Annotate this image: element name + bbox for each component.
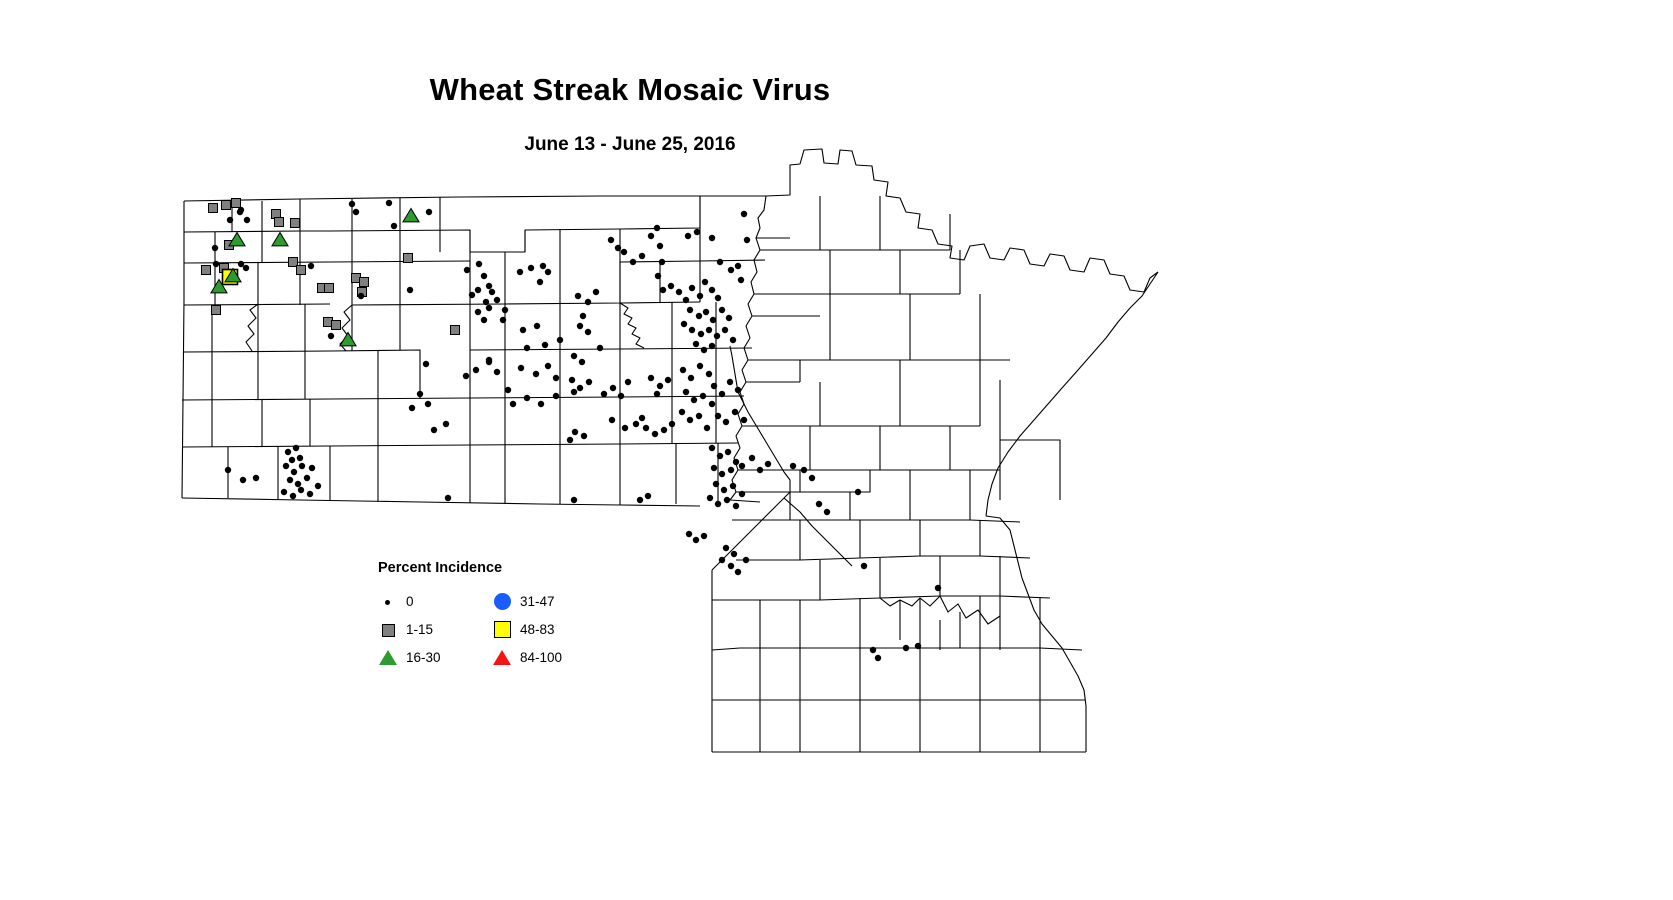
sample-point-0 <box>715 413 721 419</box>
sample-point-0 <box>639 415 645 421</box>
sample-point-0 <box>790 463 796 469</box>
sample-point-0 <box>719 471 725 477</box>
sample-point-0 <box>661 427 667 433</box>
legend-red-triangle-icon <box>492 648 514 668</box>
sample-point-0 <box>683 389 689 395</box>
sample-point-0 <box>308 263 314 269</box>
sample-point-0 <box>688 375 694 381</box>
sample-point-0 <box>281 489 287 495</box>
sample-point-0 <box>903 645 909 651</box>
sample-point-0 <box>935 585 941 591</box>
sample-point-0 <box>581 433 587 439</box>
sample-point-0 <box>486 283 492 289</box>
sample-point-0 <box>557 337 563 343</box>
county-boundaries <box>182 149 1158 752</box>
sample-point-0 <box>445 495 451 501</box>
sample-point-1-15 <box>222 201 231 210</box>
sample-point-0 <box>225 467 231 473</box>
sample-point-0 <box>601 391 607 397</box>
state-county-map <box>0 0 1673 900</box>
sample-point-0 <box>238 207 244 213</box>
sample-point-0 <box>494 297 500 303</box>
sample-point-0 <box>510 401 516 407</box>
sample-point-0 <box>915 643 921 649</box>
sample-point-0 <box>486 305 492 311</box>
sample-point-0 <box>489 289 495 295</box>
sample-point-0 <box>652 431 658 437</box>
sample-point-0 <box>733 503 739 509</box>
sample-point-1-15 <box>202 266 211 275</box>
sample-point-0 <box>238 261 244 267</box>
sample-point-0 <box>328 333 334 339</box>
sample-point-0 <box>701 533 707 539</box>
legend-title: Percent Incidence <box>378 560 502 576</box>
sample-point-0 <box>679 409 685 415</box>
sample-point-0 <box>711 383 717 389</box>
sample-point-0 <box>824 509 830 515</box>
sample-point-0 <box>709 235 715 241</box>
sample-point-0 <box>689 285 695 291</box>
sample-point-0 <box>630 259 636 265</box>
sample-point-0 <box>213 261 219 267</box>
sample-point-1-15 <box>360 278 369 287</box>
sample-point-0 <box>533 371 539 377</box>
sample-point-1-15 <box>275 218 284 227</box>
sample-point-0 <box>709 287 715 293</box>
sample-point-0 <box>739 491 745 497</box>
sample-point-0 <box>534 323 540 329</box>
sample-point-0 <box>855 489 861 495</box>
sample-point-0 <box>633 421 639 427</box>
sample-point-0 <box>739 463 745 469</box>
sample-point-0 <box>540 263 546 269</box>
sample-point-0 <box>735 387 741 393</box>
sample-point-0 <box>706 327 712 333</box>
sample-point-0 <box>481 317 487 323</box>
sample-point-0 <box>227 217 233 223</box>
sample-point-0 <box>660 287 666 293</box>
sample-point-0 <box>545 363 551 369</box>
sample-point-0 <box>731 551 737 557</box>
sample-point-0 <box>715 501 721 507</box>
sample-point-16-30 <box>272 232 288 245</box>
sample-point-0 <box>710 317 716 323</box>
sample-point-0 <box>299 463 305 469</box>
sample-point-0 <box>717 259 723 265</box>
sample-point-0 <box>735 569 741 575</box>
legend: Percent Incidence 0 1-15 16-30 31-47 <box>378 560 628 685</box>
sample-point-0 <box>518 365 524 371</box>
sample-point-0 <box>297 455 303 461</box>
sample-point-0 <box>654 391 660 397</box>
sample-point-0 <box>586 379 592 385</box>
sample-point-0 <box>685 233 691 239</box>
sample-point-0 <box>443 421 449 427</box>
sample-point-0 <box>728 467 734 473</box>
legend-yellow-square-icon <box>492 620 514 640</box>
sample-point-0 <box>689 327 695 333</box>
sample-point-0 <box>585 329 591 335</box>
sample-point-0 <box>697 293 703 299</box>
sample-point-0 <box>253 475 259 481</box>
sample-point-0 <box>473 367 479 373</box>
sample-point-0 <box>622 425 628 431</box>
sample-point-0 <box>483 299 489 305</box>
sample-point-0 <box>643 425 649 431</box>
sample-point-0 <box>538 401 544 407</box>
sample-point-0 <box>431 427 437 433</box>
sample-point-0 <box>659 259 665 265</box>
sample-point-0 <box>309 465 315 471</box>
sample-point-0 <box>669 421 675 427</box>
sample-point-0 <box>704 425 710 431</box>
sample-point-0 <box>870 647 876 653</box>
sample-point-0 <box>500 317 506 323</box>
sample-point-0 <box>702 279 708 285</box>
sample-point-0 <box>728 267 734 273</box>
sample-point-0 <box>475 287 481 293</box>
sample-point-16-30 <box>340 332 356 345</box>
legend-blue-circle-icon <box>492 592 514 612</box>
sample-point-0 <box>709 343 715 349</box>
sample-point-0 <box>713 481 719 487</box>
sample-point-0 <box>481 273 487 279</box>
sample-point-0 <box>719 557 725 563</box>
sample-point-0 <box>733 459 739 465</box>
sample-point-0 <box>717 453 723 459</box>
sample-point-0 <box>694 229 700 235</box>
sample-point-0 <box>240 477 246 483</box>
sample-point-0 <box>726 315 732 321</box>
sample-point-0 <box>298 487 304 493</box>
sample-point-1-15 <box>212 306 221 315</box>
sample-point-1-15 <box>291 219 300 228</box>
sample-point-0 <box>681 321 687 327</box>
sample-point-0 <box>571 497 577 503</box>
legend-gray-square-icon <box>378 620 400 640</box>
sample-point-0 <box>703 309 709 315</box>
sample-point-0 <box>668 283 674 289</box>
sample-point-0 <box>730 337 736 343</box>
sample-point-0 <box>409 405 415 411</box>
sample-point-0 <box>697 363 703 369</box>
sample-point-0 <box>676 289 682 295</box>
sample-point-0 <box>680 367 686 373</box>
sample-point-0 <box>290 493 296 499</box>
sample-point-1-15 <box>451 326 460 335</box>
sample-point-0 <box>707 495 713 501</box>
sample-point-0 <box>801 467 807 473</box>
sample-point-0 <box>701 347 707 353</box>
legend-label-1-15: 1-15 <box>406 622 433 637</box>
sample-point-0 <box>727 379 733 385</box>
sample-point-0 <box>730 483 736 489</box>
sample-point-0 <box>875 655 881 661</box>
sample-point-0 <box>315 483 321 489</box>
sample-point-0 <box>577 385 583 391</box>
sample-point-0 <box>738 277 744 283</box>
sample-point-0 <box>693 537 699 543</box>
sample-point-0 <box>580 313 586 319</box>
sample-point-1-15 <box>297 266 306 275</box>
sample-point-0 <box>721 487 727 493</box>
sample-point-0 <box>696 313 702 319</box>
sample-point-0 <box>517 269 523 275</box>
sample-point-1-15 <box>332 321 341 330</box>
legend-label-84-100: 84-100 <box>520 650 562 665</box>
legend-dot-icon <box>378 592 400 612</box>
sample-point-0 <box>585 299 591 305</box>
sample-point-0 <box>475 309 481 315</box>
sample-point-0 <box>686 531 692 537</box>
sample-point-0 <box>665 377 671 383</box>
sample-point-0 <box>476 261 482 267</box>
sample-point-0 <box>621 249 627 255</box>
sample-point-0 <box>287 477 293 483</box>
legend-green-triangle-icon <box>378 648 400 668</box>
sample-point-0 <box>610 385 616 391</box>
sample-point-0 <box>528 265 534 271</box>
sample-point-0 <box>698 331 704 337</box>
sample-point-0 <box>687 307 693 313</box>
sample-point-0 <box>645 493 651 499</box>
sample-point-0 <box>657 243 663 249</box>
sample-point-0 <box>289 457 295 463</box>
sample-point-1-15 <box>404 254 413 263</box>
sample-point-0 <box>524 395 530 401</box>
sample-point-0 <box>735 263 741 269</box>
sample-point-0 <box>728 563 734 569</box>
sample-point-0 <box>765 461 771 467</box>
sample-point-1-15 <box>325 284 334 293</box>
sample-point-0 <box>244 217 250 223</box>
sample-point-0 <box>709 445 715 451</box>
sample-point-0 <box>593 289 599 295</box>
sample-point-0 <box>349 201 355 207</box>
sample-point-0 <box>567 437 573 443</box>
sample-point-0 <box>285 449 291 455</box>
sample-point-0 <box>719 307 725 313</box>
sample-point-0 <box>741 417 747 423</box>
sample-point-0 <box>693 341 699 347</box>
sample-point-0 <box>358 293 364 299</box>
sample-point-0 <box>696 413 702 419</box>
sample-point-0 <box>575 293 581 299</box>
sample-point-0 <box>423 361 429 367</box>
sample-point-0 <box>691 397 697 403</box>
sample-point-0 <box>417 391 423 397</box>
sample-point-0 <box>542 342 548 348</box>
sample-point-0 <box>725 449 731 455</box>
sample-point-0 <box>715 295 721 301</box>
sample-point-0 <box>291 469 297 475</box>
sample-point-0 <box>757 467 763 473</box>
sample-point-0 <box>537 279 543 285</box>
sample-point-0 <box>648 233 654 239</box>
sample-point-0 <box>553 375 559 381</box>
sample-point-0 <box>545 269 551 275</box>
sample-point-0 <box>212 245 218 251</box>
sample-point-0 <box>571 353 577 359</box>
sample-point-0 <box>655 273 661 279</box>
sample-point-0 <box>391 223 397 229</box>
sample-point-0 <box>505 387 511 393</box>
sample-point-0 <box>608 237 614 243</box>
sample-point-0 <box>816 501 822 507</box>
sample-point-0 <box>724 497 730 503</box>
sample-point-0 <box>572 429 578 435</box>
sample-point-0 <box>719 391 725 397</box>
sample-point-0 <box>283 463 289 469</box>
sample-point-0 <box>744 237 750 243</box>
sample-point-0 <box>579 359 585 365</box>
sample-point-0 <box>304 475 310 481</box>
sample-point-0 <box>464 267 470 273</box>
sample-point-0 <box>711 465 717 471</box>
sample-point-0 <box>749 455 755 461</box>
sample-point-0 <box>741 211 747 217</box>
sample-point-0 <box>648 375 654 381</box>
sample-point-0 <box>683 297 689 303</box>
sample-point-0 <box>293 445 299 451</box>
legend-label-16-30: 16-30 <box>406 650 441 665</box>
sample-point-0 <box>714 333 720 339</box>
legend-label-0: 0 <box>406 594 414 609</box>
sample-point-0 <box>654 225 660 231</box>
sample-point-0 <box>577 323 583 329</box>
sample-point-0 <box>723 545 729 551</box>
sample-point-0 <box>502 307 508 313</box>
sample-point-0 <box>469 292 475 298</box>
sample-point-0 <box>295 481 301 487</box>
sample-point-0 <box>743 557 749 563</box>
sample-point-0 <box>571 389 577 395</box>
sample-point-0 <box>700 393 706 399</box>
sample-point-0 <box>723 419 729 425</box>
sample-point-0 <box>494 369 500 375</box>
sample-point-0 <box>426 209 432 215</box>
sample-point-0 <box>553 393 559 399</box>
sample-point-0 <box>243 265 249 271</box>
sample-point-16-30 <box>403 208 419 221</box>
sample-point-0 <box>569 377 575 383</box>
sample-point-0 <box>625 379 631 385</box>
sample-point-1-15 <box>209 204 218 213</box>
sample-point-0 <box>639 253 645 259</box>
sample-point-0 <box>307 491 313 497</box>
sample-point-0 <box>861 563 867 569</box>
sample-point-0 <box>520 327 526 333</box>
sample-point-1-15 <box>232 199 241 208</box>
sample-point-0 <box>524 345 530 351</box>
sample-point-0 <box>407 287 413 293</box>
legend-label-48-83: 48-83 <box>520 622 555 637</box>
sample-point-0 <box>618 393 624 399</box>
sample-point-0 <box>809 475 815 481</box>
sample-point-0 <box>597 345 603 351</box>
sample-point-0 <box>609 417 615 423</box>
sample-point-0 <box>732 409 738 415</box>
sample-point-0 <box>353 209 359 215</box>
sample-point-16-30 <box>229 232 245 245</box>
sample-point-0 <box>706 371 712 377</box>
sample-point-0 <box>687 417 693 423</box>
legend-label-31-47: 31-47 <box>520 594 555 609</box>
sample-point-0 <box>657 383 663 389</box>
sample-point-0 <box>463 373 469 379</box>
sample-point-0 <box>722 327 728 333</box>
sample-point-0 <box>386 200 392 206</box>
sample-point-0 <box>615 245 621 251</box>
sample-point-0 <box>425 401 431 407</box>
sample-point-0 <box>486 357 492 363</box>
sample-point-0 <box>709 401 715 407</box>
map-figure: Wheat Streak Mosaic Virus June 13 - June… <box>0 0 1673 900</box>
sample-point-0 <box>637 497 643 503</box>
